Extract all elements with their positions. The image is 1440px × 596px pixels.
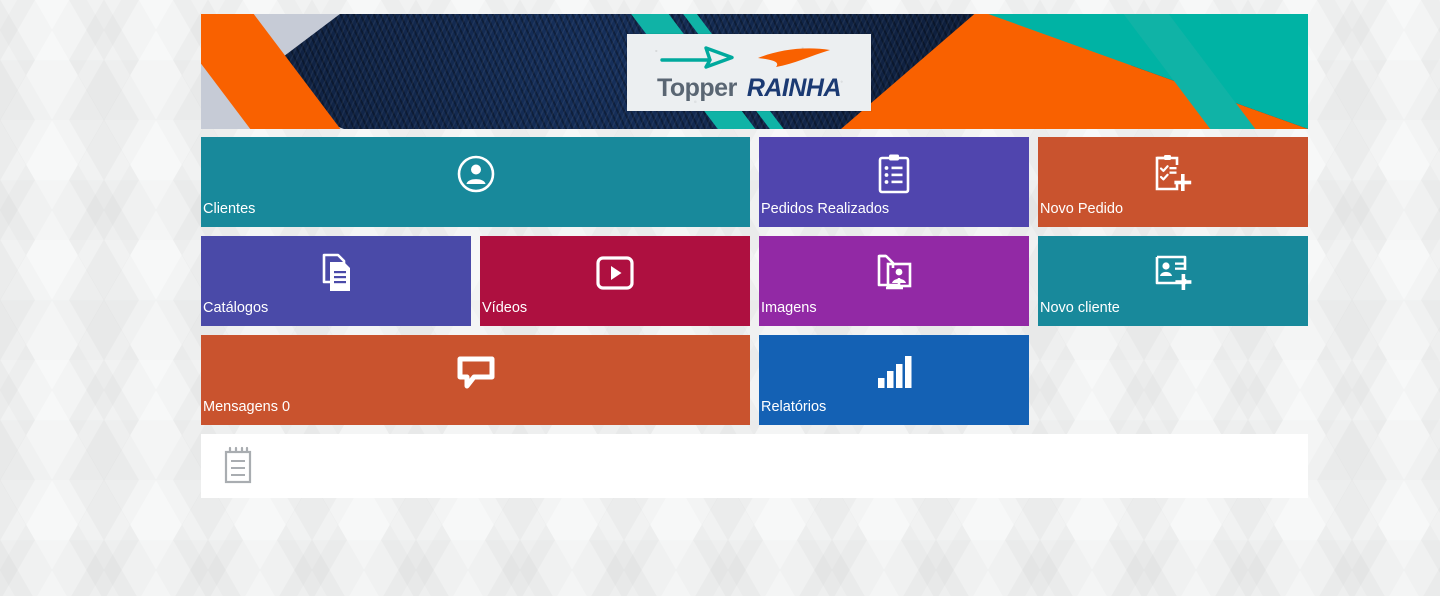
notepad-icon[interactable] [222, 446, 254, 486]
tile-relatorios[interactable]: Relatórios [759, 335, 1029, 425]
tile-label: Vídeos [482, 300, 527, 317]
tile-clientes[interactable]: Clientes [201, 137, 750, 227]
tile-label: Novo cliente [1040, 300, 1120, 317]
rainha-swoosh-icon [754, 44, 834, 74]
clipboard-list-icon [871, 151, 917, 197]
tile-label: Relatórios [761, 399, 826, 416]
tile-label: Mensagens 0 [203, 399, 290, 416]
speech-bubble-icon [453, 349, 499, 395]
brand-rainha: RAINHA [747, 44, 841, 101]
content-container: Topper RAINHA [201, 14, 1308, 498]
topper-arrow-icon [660, 44, 734, 74]
footer-panel [201, 434, 1308, 498]
brand-topper: Topper [657, 44, 737, 101]
tile-grid: Clientes [201, 137, 1308, 425]
tile-novo-pedido[interactable]: Novo Pedido [1038, 137, 1308, 227]
tile-row: Mensagens 0 Relatórios [201, 335, 1308, 425]
tile-row: Clientes [201, 137, 1308, 227]
topper-wordmark: Topper [657, 76, 737, 101]
tile-label: Pedidos Realizados [761, 201, 889, 218]
tile-row: Catálogos Vídeos [201, 236, 1308, 326]
tile-catalogos[interactable]: Catálogos [201, 236, 471, 326]
brand-banner: Topper RAINHA [201, 14, 1308, 129]
tile-mensagens[interactable]: Mensagens 0 [201, 335, 750, 425]
tile-label: Clientes [203, 201, 255, 218]
photos-icon [871, 250, 917, 296]
logo-plate: Topper RAINHA [627, 34, 871, 111]
user-circle-icon [453, 151, 499, 197]
tile-videos[interactable]: Vídeos [480, 236, 750, 326]
tile-novo-cliente[interactable]: Novo cliente [1038, 236, 1308, 326]
contact-card-plus-icon [1150, 250, 1196, 296]
documents-copy-icon [313, 250, 359, 296]
tile-label: Catálogos [203, 300, 268, 317]
bar-chart-icon [871, 349, 917, 395]
clipboard-check-plus-icon [1150, 151, 1196, 197]
tile-pedidos-realizados[interactable]: Pedidos Realizados [759, 137, 1029, 227]
app-root: Topper RAINHA [0, 0, 1440, 596]
rainha-wordmark: RAINHA [747, 76, 841, 101]
play-button-icon [592, 250, 638, 296]
tile-label: Novo Pedido [1040, 201, 1123, 218]
tile-label: Imagens [761, 300, 817, 317]
tile-imagens[interactable]: Imagens [759, 236, 1029, 326]
